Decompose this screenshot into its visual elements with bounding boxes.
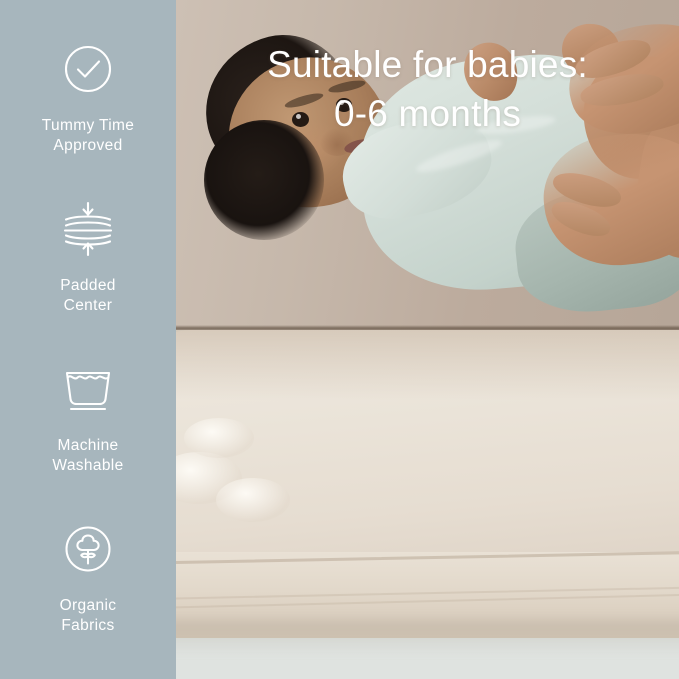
feature-item-organic-fabrics: Organic Fabrics	[0, 518, 176, 670]
feature-label: Machine Washable	[52, 436, 123, 476]
mattress-top-shading	[176, 330, 679, 400]
check-circle-icon	[57, 38, 119, 100]
feature-label: Organic Fabrics	[60, 596, 117, 636]
cotton-boll-icon	[57, 518, 119, 580]
feature-label: Padded Center	[60, 276, 116, 316]
mattress-tuft	[216, 478, 290, 522]
feature-item-machine-washable: Machine Washable	[0, 358, 176, 510]
page-title: Suitable for babies: 0-6 months	[176, 40, 679, 138]
feature-item-tummy-time: Tummy Time Approved	[0, 38, 176, 190]
mattress-tuft	[184, 418, 254, 458]
mattress-drop-shadow	[176, 620, 679, 654]
feature-item-padded-center: Padded Center	[0, 198, 176, 350]
product-feature-graphic: Suitable for babies: 0-6 months Tummy Ti…	[0, 0, 679, 679]
feature-sidebar: Tummy Time Approved Padded Center	[0, 0, 176, 679]
feature-label: Tummy Time Approved	[42, 116, 134, 156]
machine-wash-icon	[57, 358, 119, 420]
padded-compression-icon	[57, 198, 119, 260]
